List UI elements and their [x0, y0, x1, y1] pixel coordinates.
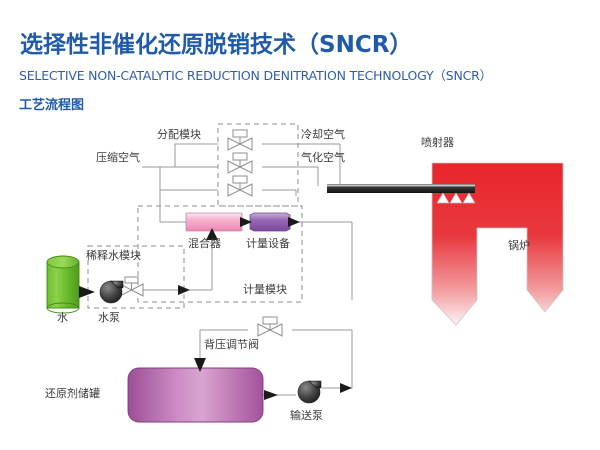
label-mixer: 混合器 — [188, 238, 221, 249]
label-boiler: 锅炉 — [508, 240, 530, 251]
label-distribution-module: 分配模块 — [157, 129, 201, 140]
arrow-meter-out — [288, 217, 300, 227]
arrow-tank-to-pump — [264, 390, 278, 400]
slide-root: 选择性非催化还原脱销技术（SNCR） SELECTIVE NON-CATALYT… — [0, 0, 600, 450]
valve-cooling-air — [228, 130, 252, 150]
valve-atomizing-air — [228, 176, 252, 196]
label-reductant-storage-tank: 还原剂储罐 — [45, 388, 100, 399]
water-tank-cylinder — [47, 256, 79, 313]
valve-back-pressure — [258, 317, 282, 336]
mixer-vessel — [186, 213, 242, 231]
label-water-pump: 水泵 — [98, 312, 120, 323]
label-metering-module: 计量模块 — [243, 284, 287, 295]
label-water: 水 — [57, 312, 68, 323]
pipe-branch-cooling — [175, 144, 218, 167]
metering-equipment-vessel — [250, 213, 290, 231]
valve-dilution-water — [120, 277, 143, 296]
valve-gasification-air — [228, 153, 252, 173]
transfer-pump-shape — [298, 381, 321, 403]
label-metering-equipment: 计量设备 — [246, 238, 290, 249]
pipe-branch-gasification — [160, 167, 218, 190]
spray-nozzles — [437, 193, 475, 203]
water-pump-shape — [100, 281, 123, 303]
label-gasification-air: 气化空气 — [301, 152, 345, 163]
label-dilution-water-module: 稀释水模块 — [86, 250, 141, 261]
label-back-pressure-valve: 背压调节阀 — [204, 339, 259, 350]
label-transfer-pump: 输送泵 — [290, 410, 323, 421]
label-cooling-air: 冷却空气 — [301, 129, 345, 140]
arrow-pump-discharge — [340, 383, 352, 393]
pipe-pump-discharge — [322, 330, 352, 388]
arrow-water-to-pump — [79, 286, 95, 298]
label-injector: 喷射器 — [421, 137, 454, 148]
reductant-storage-tank-shape — [128, 368, 263, 422]
label-compressed-air: 压缩空气 — [96, 152, 140, 163]
process-flow-diagram — [0, 0, 600, 450]
distribution-valves — [228, 130, 252, 196]
